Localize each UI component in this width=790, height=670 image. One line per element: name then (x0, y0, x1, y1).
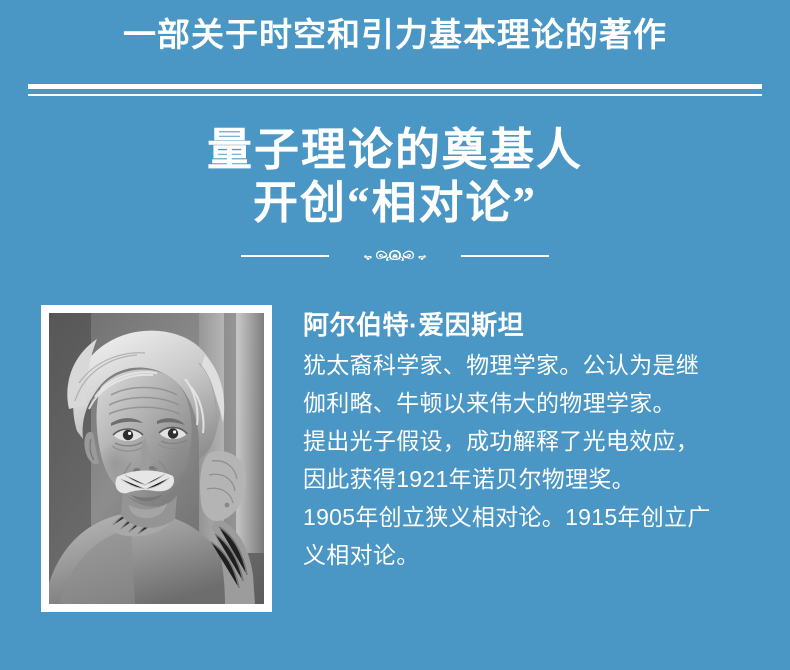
ornament-divider (0, 243, 790, 269)
ornament-line-left (241, 255, 329, 257)
bio-line: 因此获得1921年诺贝尔物理奖。 (303, 460, 773, 498)
page-title-line-1: 量子理论的奠基人 (0, 124, 790, 177)
einstein-portrait-photo (49, 313, 264, 604)
double-rule-divider (28, 84, 762, 96)
ornament-line-right (461, 255, 549, 257)
portrait-frame (41, 305, 272, 612)
bio-line: 犹太裔科学家、物理学家。公认为是继 (303, 346, 773, 384)
bio-line: 1905年创立狭义相对论。1915年创立广 (303, 498, 773, 536)
person-name: 阿尔伯特·爱因斯坦 (303, 306, 773, 344)
banner-heading: 一部关于时空和引力基本理论的著作 (0, 14, 790, 58)
bio-description: 犹太裔科学家、物理学家。公认为是继 伽利略、牛顿以来伟大的物理学家。 提出光子假… (303, 346, 773, 574)
promo-page: 一部关于时空和引力基本理论的著作 量子理论的奠基人 开创“相对论” (0, 0, 790, 670)
bio-line: 伽利略、牛顿以来伟大的物理学家。 (303, 384, 773, 422)
bio-block: 阿尔伯特·爱因斯坦 犹太裔科学家、物理学家。公认为是继 伽利略、牛顿以来伟大的物… (303, 306, 773, 574)
page-title: 量子理论的奠基人 开创“相对论” (0, 124, 790, 230)
bio-line: 义相对论。 (303, 536, 773, 574)
flourish-ornament-icon (337, 243, 453, 269)
bio-line: 提出光子假设，成功解释了光电效应， (303, 422, 773, 460)
rule-thin (28, 94, 762, 96)
page-title-line-2: 开创“相对论” (0, 177, 790, 230)
